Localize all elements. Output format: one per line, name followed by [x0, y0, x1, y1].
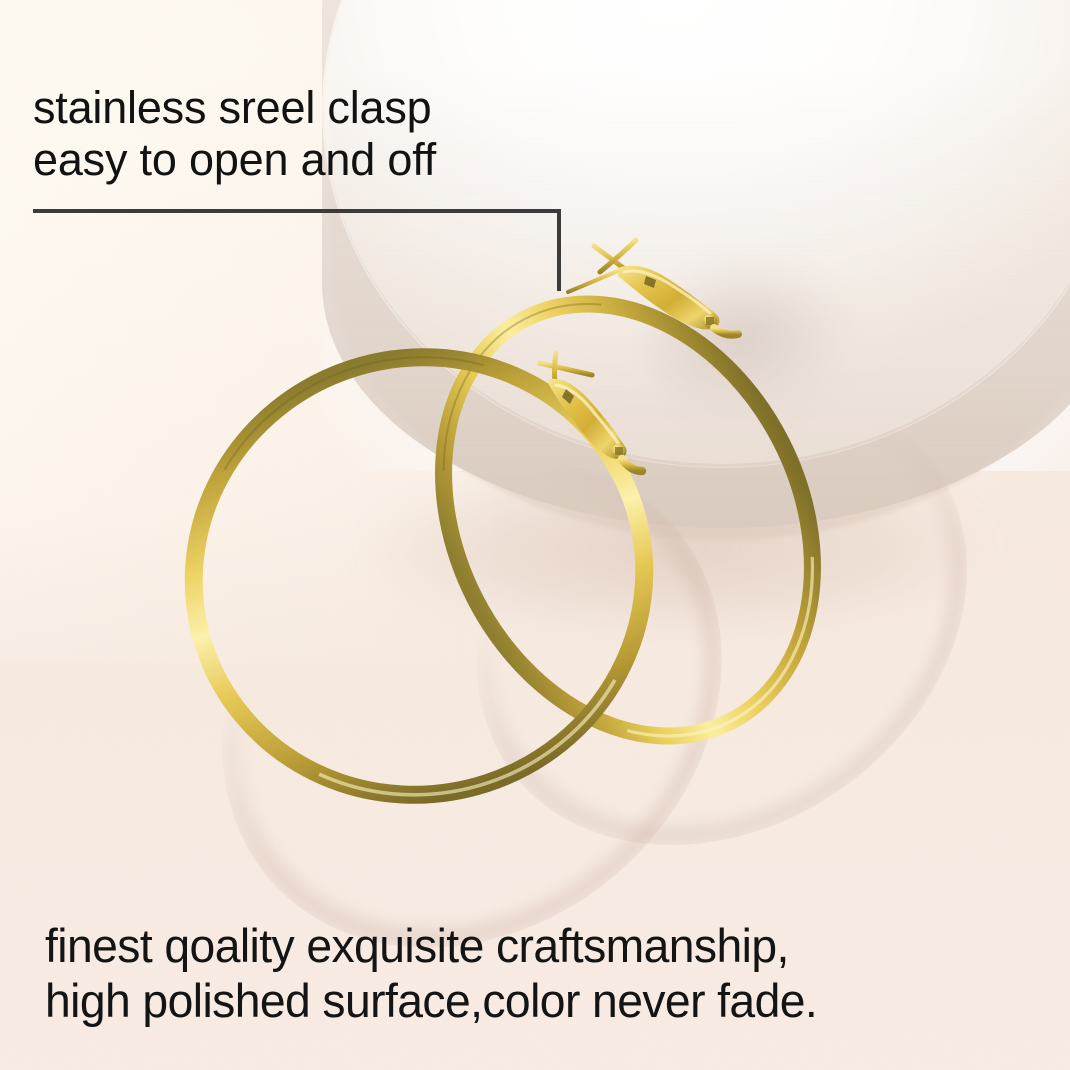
- product-image: stainless sreel clasp easy to open and o…: [0, 0, 1070, 1070]
- leader-vertical-segment: [557, 209, 561, 291]
- clasp-front-post: [540, 363, 592, 375]
- clasp-back-hinge-pin: [706, 317, 714, 325]
- callout-leader-line: [33, 209, 561, 291]
- clasp-front: [520, 345, 710, 475]
- caption-line-1: finest qoality exquisite craftsmanship,: [45, 918, 1030, 973]
- callout-line-2: easy to open and off: [33, 134, 673, 186]
- leader-horizontal-segment: [33, 209, 561, 213]
- clasp-callout: stainless sreel clasp easy to open and o…: [33, 82, 673, 186]
- clasp-front-link: [622, 459, 642, 471]
- caption-line-2: high polished surface,color never fade.: [45, 973, 1030, 1028]
- clasp-front-hinge-pin: [615, 447, 623, 455]
- quality-caption: finest qoality exquisite craftsmanship, …: [45, 918, 1045, 1028]
- callout-line-1: stainless sreel clasp: [33, 82, 673, 134]
- clasp-back-link: [714, 328, 738, 335]
